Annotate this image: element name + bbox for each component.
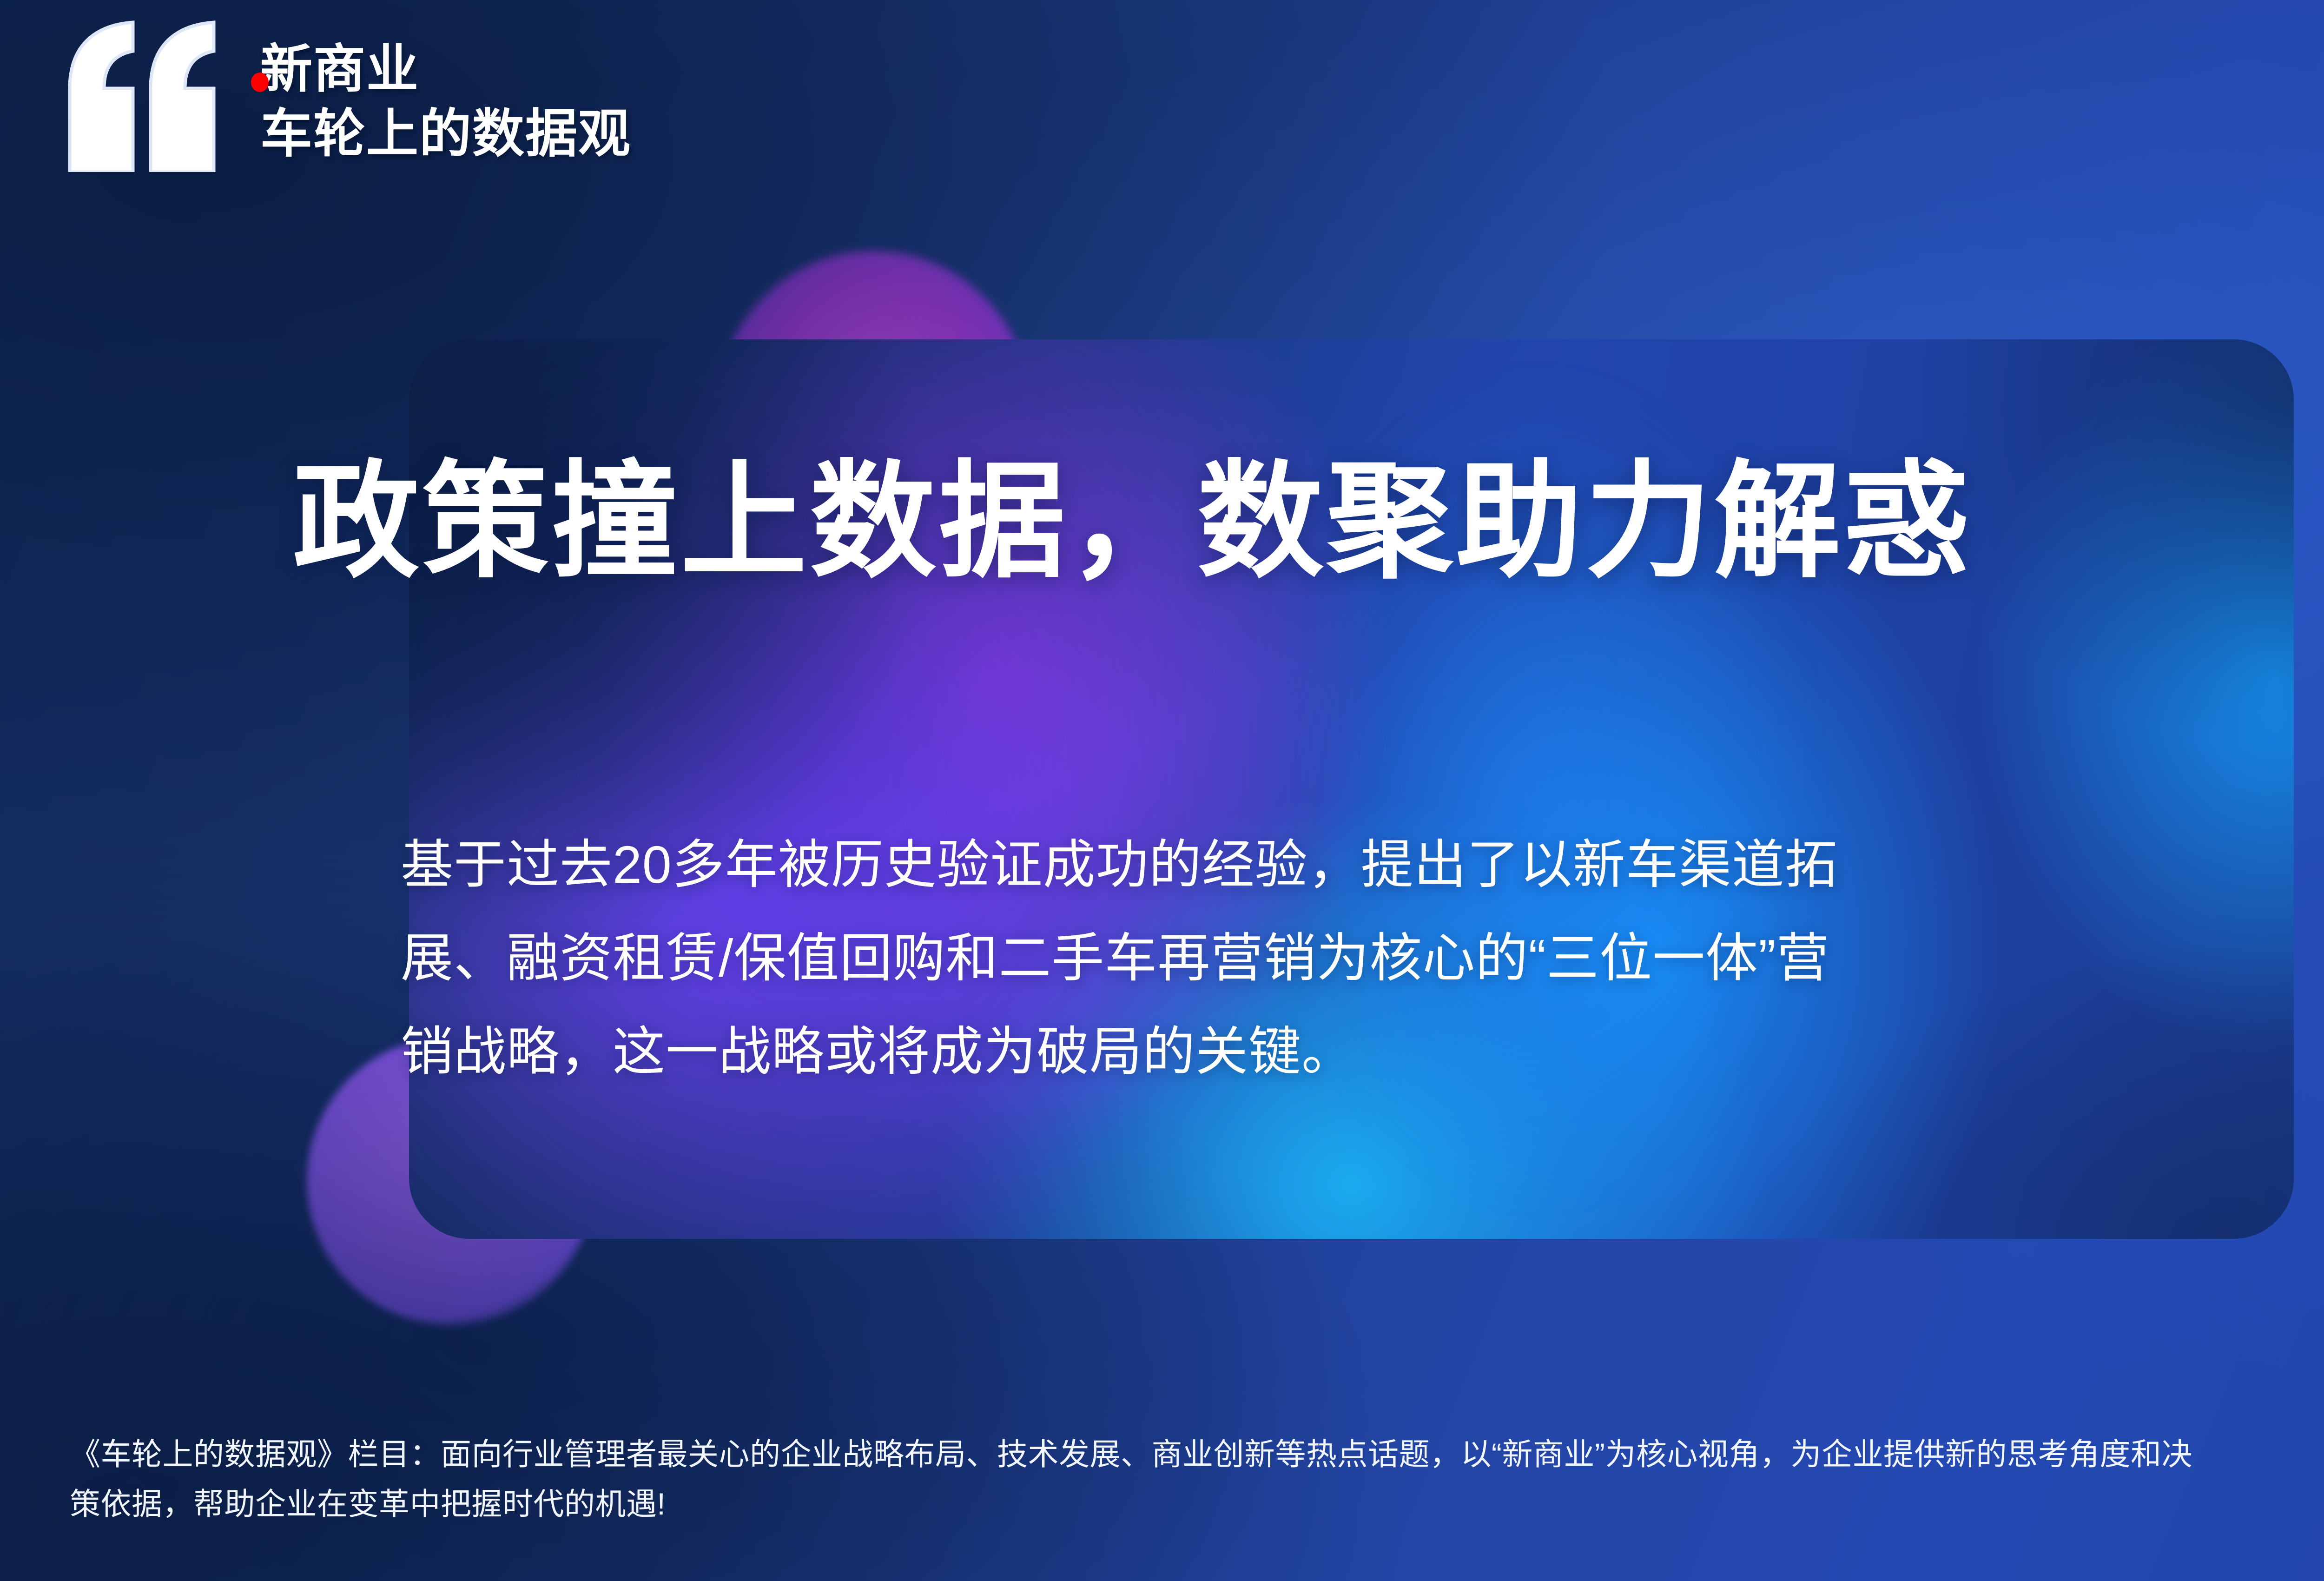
brand-block: 新商业 车轮上的数据观 <box>65 19 631 172</box>
brand-line-1-label: 新商业 <box>260 40 419 98</box>
slide-canvas: 新商业 车轮上的数据观 政策撞上数据，数聚助力解惑 基于过去20多年被历史验证成… <box>0 0 2324 1581</box>
body-line-2: 展、融资租赁/保值回购和二手车再营销为核心的“三位一体”营 <box>401 912 2288 1005</box>
body-line-1: 基于过去20多年被历史验证成功的经验，提出了以新车渠道拓 <box>401 818 2288 912</box>
red-dot-icon <box>251 73 269 92</box>
background-vignette <box>0 0 2324 1581</box>
brand-line-2: 车轮上的数据观 <box>260 102 631 166</box>
brand-text: 新商业 车轮上的数据观 <box>260 19 631 166</box>
footer-line-2: 策依据，帮助企业在变革中把握时代的机遇! <box>70 1479 2324 1529</box>
footer-line-1: 《车轮上的数据观》栏目：面向行业管理者最关心的企业战略布局、技术发展、商业创新等… <box>70 1429 2324 1479</box>
body-paragraph: 基于过去20多年被历史验证成功的经验，提出了以新车渠道拓 展、融资租赁/保值回购… <box>401 818 2288 1098</box>
brand-line-1: 新商业 <box>260 37 631 102</box>
body-line-3: 销战略，这一战略或将成为破局的关键。 <box>401 1005 2288 1098</box>
page-title: 政策撞上数据，数聚助力解惑 <box>293 456 1973 589</box>
quote-mark-icon <box>65 19 218 172</box>
footer-note: 《车轮上的数据观》栏目：面向行业管理者最关心的企业战略布局、技术发展、商业创新等… <box>70 1429 2324 1529</box>
